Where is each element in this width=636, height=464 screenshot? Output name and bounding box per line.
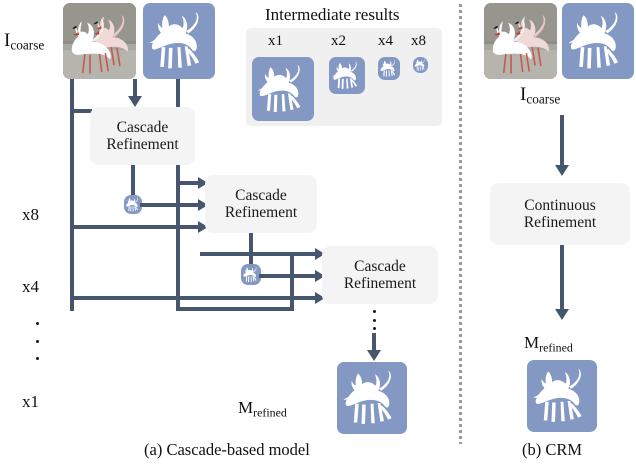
cascade2-bus-vertical — [290, 252, 294, 310]
cascade-refinement-block-2[interactable]: Cascade Refinement — [205, 175, 317, 233]
cascade-3-line1: Cascade — [354, 258, 406, 275]
scale-axis-ellipsis — [35, 322, 39, 360]
right-module-to-output-arrowhead — [555, 309, 569, 320]
final-output-arrowhead — [367, 350, 381, 361]
intermediate-results-title: Intermediate results — [265, 5, 400, 25]
cascade-1-line2: Refinement — [106, 136, 178, 153]
intermediate-mask-icon-2 — [241, 264, 261, 285]
intermediate-label-x8: x8 — [411, 33, 426, 50]
continuous-refinement-line2: Refinement — [524, 214, 596, 231]
right-output-label: Mrefined — [524, 333, 573, 355]
continuous-refinement-line1: Continuous — [524, 197, 595, 214]
right-input-to-module-line — [560, 115, 564, 167]
intermediate-thumbnail-x4 — [378, 57, 400, 80]
cascade-2-line2: Refinement — [225, 204, 297, 221]
cascade3-input-line-bottom — [70, 296, 318, 300]
intermediate-label-x1: x1 — [268, 33, 283, 50]
cascade2-input-line-mid — [140, 203, 200, 207]
cascade3-input-line-top — [200, 252, 318, 256]
continuous-refinement-block[interactable]: Continuous Refinement — [490, 183, 630, 245]
right-input-photo-thumbnail — [484, 3, 557, 79]
cascade2-out-line — [249, 233, 253, 266]
scale-label-x8: x8 — [22, 205, 39, 225]
input-coarse-mask-thumbnail — [143, 3, 215, 79]
cascade-1-line1: Cascade — [117, 119, 169, 136]
figure-root: Icoarse Cascade Refinement Cascade Refin… — [0, 0, 636, 464]
photo-to-cascade1-arrowhead — [128, 96, 142, 107]
left-input-label: Icoarse — [4, 30, 44, 54]
right-panel-caption: (b) CRM — [522, 440, 582, 460]
scale-label-x1: x1 — [22, 392, 39, 412]
cascade1-out-line — [131, 165, 135, 197]
right-input-to-module-arrowhead — [555, 165, 569, 176]
left-panel-caption: (a) Cascade-based model — [144, 440, 310, 460]
right-module-to-output-line — [560, 245, 564, 311]
right-input-label: Icoarse — [520, 84, 560, 108]
image-bus-line — [70, 79, 74, 311]
cascade2-bus-horizontal — [176, 307, 294, 311]
image-to-cascade1-line — [70, 109, 92, 113]
mask-bus-line — [176, 79, 180, 107]
right-output-mask-thumbnail — [527, 360, 597, 432]
cascade-refinement-block-3[interactable]: Cascade Refinement — [322, 246, 438, 304]
right-input-coarse-mask-thumbnail — [562, 3, 634, 79]
cascade3-input-line-mid — [259, 274, 318, 278]
intermediate-thumbnail-x1 — [252, 57, 314, 121]
intermediate-thumbnail-x8 — [413, 57, 428, 73]
cascade-3-line2: Refinement — [344, 275, 416, 292]
cascade-2-line1: Cascade — [235, 187, 287, 204]
cascade-continuation-dots — [372, 310, 376, 330]
intermediate-thumbnail-x2 — [329, 57, 365, 94]
left-output-mask-thumbnail — [337, 362, 407, 434]
intermediate-label-x4: x4 — [378, 33, 393, 50]
panel-divider — [459, 4, 462, 444]
left-output-label: Mrefined — [238, 398, 287, 420]
scale-label-x4: x4 — [22, 277, 39, 297]
cascade1-right-bus — [176, 165, 180, 310]
intermediate-label-x2: x2 — [331, 33, 346, 50]
input-photo-thumbnail — [63, 3, 136, 79]
cascade2-input-line-top — [176, 181, 200, 185]
cascade-refinement-block-1[interactable]: Cascade Refinement — [90, 107, 195, 165]
cascade2-input-line-bottom — [70, 225, 200, 229]
